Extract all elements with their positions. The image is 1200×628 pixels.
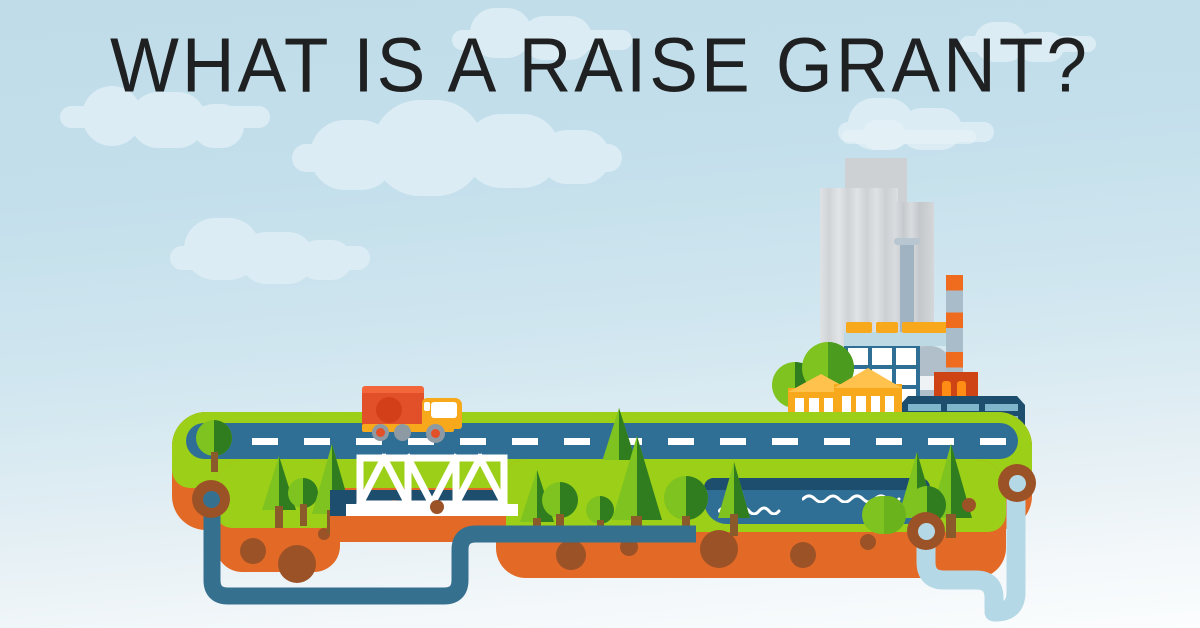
rock-upper-2	[962, 498, 976, 512]
office-cornice	[844, 332, 954, 346]
roof-accent-2	[876, 322, 898, 333]
rock-main-4	[790, 542, 816, 568]
rock-main-5	[860, 534, 876, 550]
landmass	[0, 400, 1200, 628]
tree-river-bush	[862, 496, 906, 534]
truck-wheel-rear-2	[394, 424, 411, 441]
poster-canvas: WHAT IS A RAISE GRANT?	[0, 0, 1200, 628]
rock-upper-1	[430, 500, 444, 514]
pipeline-right-svg	[910, 476, 1090, 628]
pipeline-right-collar-1-inner	[918, 523, 935, 540]
tower-spire-cap	[894, 238, 920, 245]
smokestack	[946, 275, 963, 385]
delivery-truck	[362, 386, 470, 440]
truck-wheel-front-hub	[431, 429, 440, 438]
roof-accent-3	[902, 322, 952, 333]
pipeline-right-collar-2-inner	[1009, 475, 1026, 492]
truck-logo	[376, 397, 402, 423]
cloud-7	[842, 120, 976, 142]
page-title: WHAT IS A RAISE GRANT?	[0, 26, 1200, 107]
truck-wheel-rear-1-hub	[376, 428, 385, 437]
truck-cargo-top	[362, 386, 424, 393]
tree-main-6	[718, 462, 750, 534]
cloud-2	[292, 100, 622, 172]
pipeline-left-collar-inner	[203, 491, 220, 508]
truck-side-window	[424, 402, 430, 411]
truck-windshield	[431, 402, 457, 418]
cloud-3	[170, 218, 370, 270]
pipeline-right	[910, 476, 1090, 628]
city-skyline	[760, 150, 1060, 430]
roof-accent-1	[846, 322, 872, 333]
